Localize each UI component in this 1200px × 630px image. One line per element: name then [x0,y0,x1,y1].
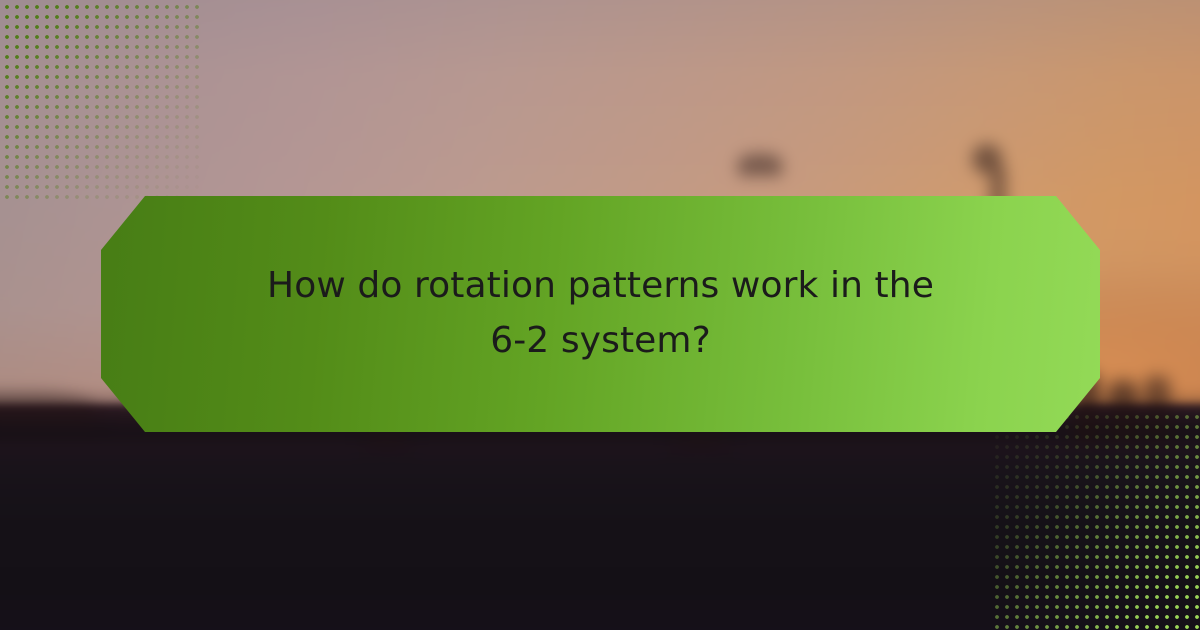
share-card: How do rotation patterns work in the 6-2… [0,0,1200,630]
headline-text: How do rotation patterns work in the 6-2… [251,259,951,368]
dot-pattern-top-left [0,0,200,200]
silhouette-shape [0,392,96,426]
dot-pattern-bottom-right [990,410,1200,630]
silhouette-shape [738,154,782,176]
headline-banner: How do rotation patterns work in the 6-2… [101,196,1100,432]
